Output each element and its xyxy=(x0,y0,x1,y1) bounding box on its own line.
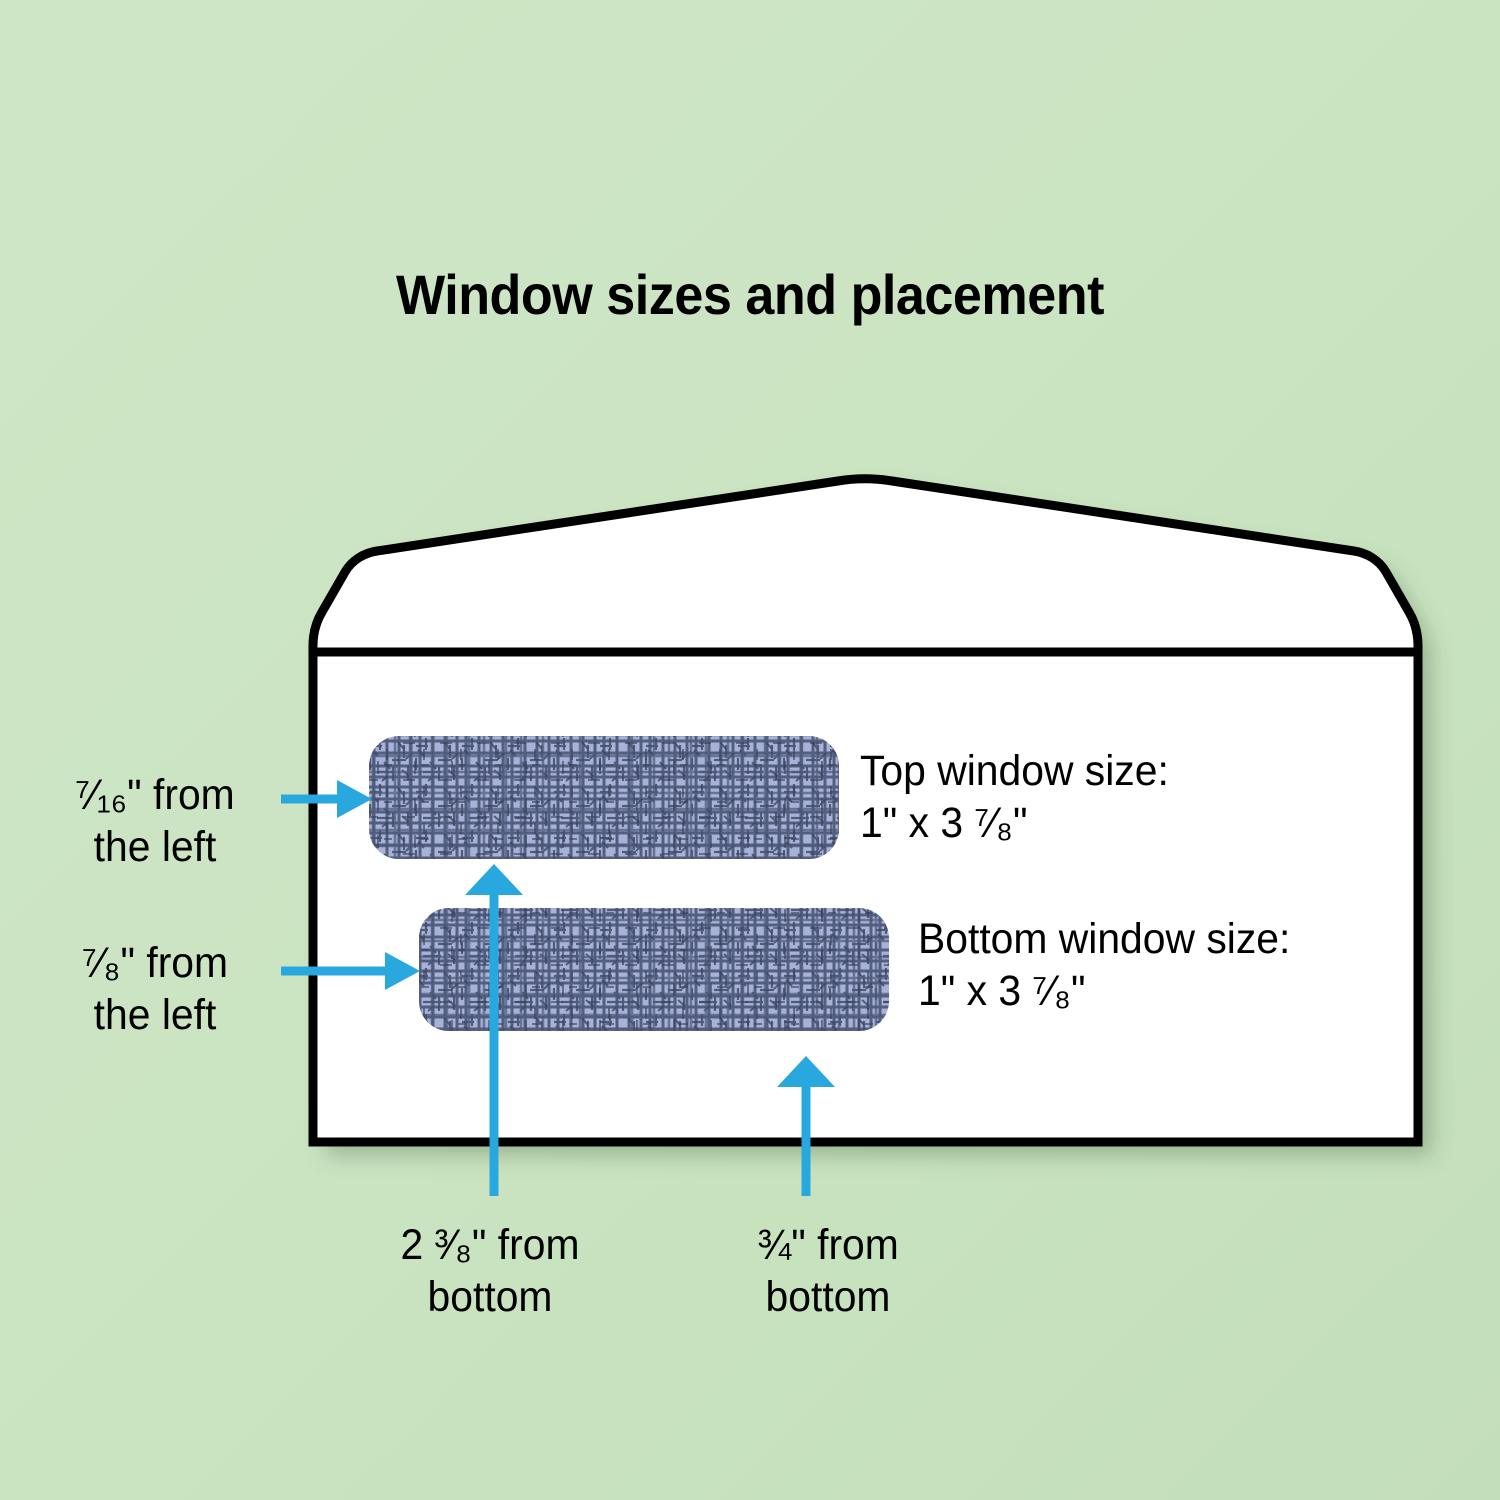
diagram-canvas: Window sizes and placement xyxy=(0,0,1500,1500)
label-bottom-window-size: Bottom window size: 1" x 3 ⁷⁄₈" xyxy=(918,913,1450,1018)
label-top-window-left-offset: ⁷⁄₁₆" from the left xyxy=(36,769,274,874)
label-bottom-window-left-offset: ⁷⁄₈" from the left xyxy=(36,937,274,1042)
top-window xyxy=(369,736,839,859)
label-top-window-size: Top window size: 1" x 3 ⁷⁄₈" xyxy=(860,745,1392,850)
label-top-window-bottom-offset: 2 ³⁄₈" from bottom xyxy=(348,1219,633,1324)
label-bottom-window-bottom-offset: ¾" from bottom xyxy=(686,1219,971,1324)
